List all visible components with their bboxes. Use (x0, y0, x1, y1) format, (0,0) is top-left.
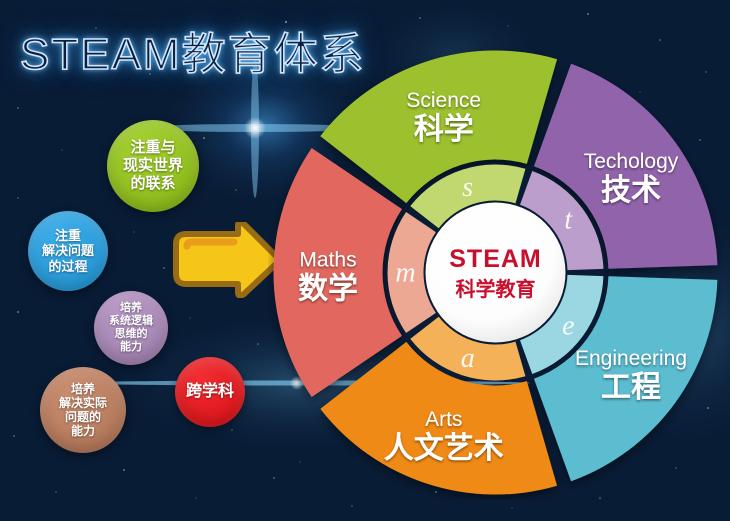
bubble-red[interactable]: 跨学科 (175, 357, 245, 427)
bubble-green[interactable]: 注重与现实世界的联系 (107, 120, 199, 212)
bubble-purple[interactable]: 培养系统逻辑思维的能力 (94, 291, 168, 365)
bubble-text: 注重与现实世界的联系 (119, 139, 187, 192)
steam-wheel: STEAM 科学教育 sScience科学tTechology技术eEngine… (268, 45, 723, 500)
poster-canvas: STEAM教育体系 注重与现实世界的联系 注重解决问题的过程 培养系统逻辑思维的… (0, 0, 730, 521)
wheel-label-en-engineering: Engineering (575, 347, 687, 370)
bubble-text: 跨学科 (182, 383, 238, 402)
wheel-letter-arts: a (461, 343, 475, 374)
wheel-letter-science: s (462, 172, 473, 203)
bubble-line: 问题的 (55, 410, 111, 424)
wheel-label-cn-arts: 人文艺术 (384, 431, 504, 466)
wheel-letter-technology: t (564, 205, 573, 236)
wheel-label-en-maths: Maths (299, 249, 356, 272)
wheel-label-cn-science: 科学 (414, 112, 474, 147)
wheel-letter-maths: m (395, 258, 415, 289)
wheel-label-cn-maths: 数学 (298, 272, 358, 307)
bubble-line: 现实世界 (119, 157, 187, 175)
bubble-blue[interactable]: 注重解决问题的过程 (28, 211, 108, 291)
core-label-cn: 科学教育 (456, 277, 536, 301)
wheel-label-cn-technology: 技术 (601, 173, 661, 208)
wheel-label-en-arts: Arts (425, 408, 462, 431)
bubble-line: 系统逻辑 (105, 315, 157, 328)
bubble-line: 解决实际 (55, 396, 111, 410)
bubble-brown[interactable]: 培养解决实际问题的能力 (40, 367, 126, 453)
bubble-line: 培养 (55, 382, 111, 396)
bubble-text: 培养解决实际问题的能力 (55, 382, 111, 439)
bubble-line: 能力 (105, 341, 157, 354)
core-label-en: STEAM (449, 245, 542, 273)
wheel-label-cn-engineering: 工程 (601, 370, 661, 405)
wheel-label-en-technology: Techology (584, 150, 679, 173)
bubble-line: 思维的 (105, 328, 157, 341)
bubble-line: 的联系 (119, 175, 187, 193)
wheel-letter-engineering: e (562, 310, 574, 341)
bubble-line: 的过程 (38, 259, 98, 274)
bubble-line: 能力 (55, 424, 111, 438)
wheel-label-en-science: Science (406, 89, 481, 112)
bubble-line: 注重与 (119, 139, 187, 157)
bubble-line: 注重 (38, 228, 98, 243)
bubble-text: 培养系统逻辑思维的能力 (105, 302, 157, 354)
process-arrow (172, 222, 282, 298)
bubble-line: 跨学科 (182, 383, 238, 402)
bubble-line: 培养 (105, 302, 157, 315)
bubble-text: 注重解决问题的过程 (38, 228, 98, 274)
bubble-line: 解决问题 (38, 243, 98, 258)
